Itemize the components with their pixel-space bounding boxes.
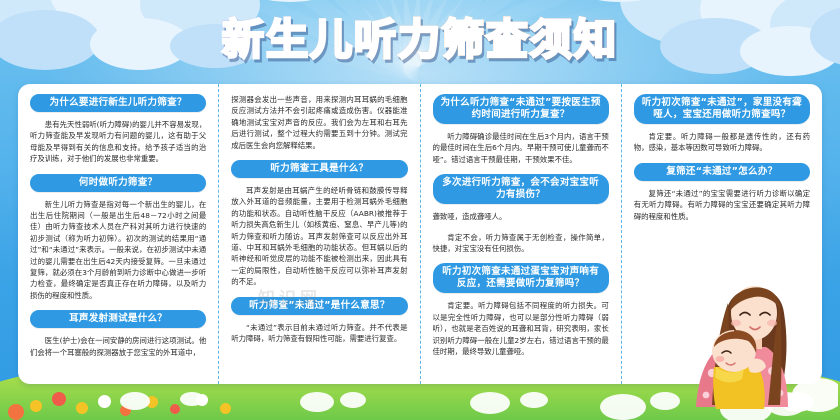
cloud-puff-icon <box>600 394 646 420</box>
cloud-puff-icon <box>180 392 204 406</box>
mother-holding-baby-illustration <box>668 255 838 420</box>
answer-paragraph: 新生儿听力筛查是指对每一个新出生的婴儿，在出生后住院期间（一般是出生后48－72… <box>30 199 206 302</box>
flower-icon <box>220 403 231 414</box>
cloud-puff-icon <box>340 392 366 408</box>
page-title: 新生儿听力筛查须知 <box>222 16 618 64</box>
content-column: 探测器会发出一些声音，用来探测内耳耳蜗的毛细胞反应测试方法并不会引起疼痛或造成伤… <box>218 84 419 384</box>
cloud-puff-icon <box>120 392 150 410</box>
question-heading: 多次进行听力筛查，会不会对宝宝听力有损伤？ <box>433 174 609 204</box>
flower-icon <box>30 400 42 412</box>
poster-title-container: 新生儿听力筛查须知 <box>0 16 840 64</box>
answer-paragraph: “未通过”表示目前未通过听力筛查。并不代表是听力障碍，听力筛查有假阳性可能，需要… <box>231 322 407 345</box>
answer-paragraph: 听力障碍确诊最佳时间在生后3个月内，语言干预的最佳时间在生后6个月内。早期干预可… <box>433 131 609 165</box>
answer-paragraph: 医生(护士)会在一间安静的房间进行这项测试。他们会将一个耳塞般的探测器放于您宝宝… <box>30 335 206 358</box>
answer-paragraph: 耳声发射是由耳蜗产生的经听骨链和鼓膜传导释放入外耳道的音频能量，主要用于检测耳蜗… <box>231 185 407 288</box>
flower-icon <box>170 404 180 414</box>
content-column: 为什么要进行新生儿听力筛查？患有先天性弱听(听力障碍)的婴儿并不容易发现，听力筛… <box>18 84 218 384</box>
answer-paragraph: 肯定要。听力障碍一般都是遗传性的，还有药物，感染，基本等因数可导致听力障碍。 <box>634 131 810 154</box>
question-heading: 听力初次筛查未通过蛋宝宝对声响有反应，还需要做听力复筛吗？ <box>433 263 609 293</box>
question-heading: 耳声发射测试是什么？ <box>30 310 206 328</box>
answer-paragraph: 聋致哑，造成聋哑人。 <box>433 211 609 222</box>
question-heading: 为什么听力筛查“未通过”要按医生预约时间进行听力复查？ <box>433 94 609 124</box>
question-heading: 为什么要进行新生儿听力筛查？ <box>30 94 206 112</box>
cloud-puff-icon <box>520 392 548 408</box>
flower-icon <box>52 392 66 406</box>
question-heading: 听力筛查工具是什么？ <box>231 160 407 178</box>
flower-icon <box>98 395 111 408</box>
question-heading: 复筛还“未通过”怎么办？ <box>634 163 810 181</box>
cloud-puff-icon <box>300 392 334 412</box>
question-heading: 何时做听力筛查？ <box>30 174 206 192</box>
answer-paragraph: 肯定要。听力障碍包括不同程度的听力损失。可以是完全性听力障碍，也可以是部分性听力… <box>433 300 609 357</box>
answer-paragraph: 患有先天性弱听(听力障碍)的婴儿并不容易发现，听力筛查能及早发现听力有问题的婴儿… <box>30 119 206 165</box>
content-column: 为什么听力筛查“未通过”要按医生预约时间进行听力复查？听力障碍确诊最佳时间在生后… <box>420 84 621 384</box>
flower-icon <box>8 404 24 420</box>
answer-paragraph: 探测器会发出一些声音，用来探测内耳耳蜗的毛细胞反应测试方法并不会引起疼痛或造成伤… <box>231 94 407 151</box>
answer-paragraph: 肯定不会，听力筛查属于无创检查，操作简单，快捷，对宝宝没有任何损伤。 <box>433 232 609 255</box>
poster-canvas: 新生儿听力筛查须知 为什么要进行新生儿听力筛查？患有先天性弱听(听力障碍)的婴儿… <box>0 0 840 420</box>
question-heading: 听力初次筛查“未通过”，家里没有聋哑人，宝宝还用做听力筛查吗？ <box>634 94 810 124</box>
cloud-puff-icon <box>470 392 510 414</box>
answer-paragraph: 复筛还“未通过”的宝宝需要进行听力诊断以确定有无听力障碍。有听力障碍的宝宝还要确… <box>634 188 810 222</box>
watermark: 知识网 <box>258 284 321 309</box>
flower-icon <box>76 402 88 414</box>
